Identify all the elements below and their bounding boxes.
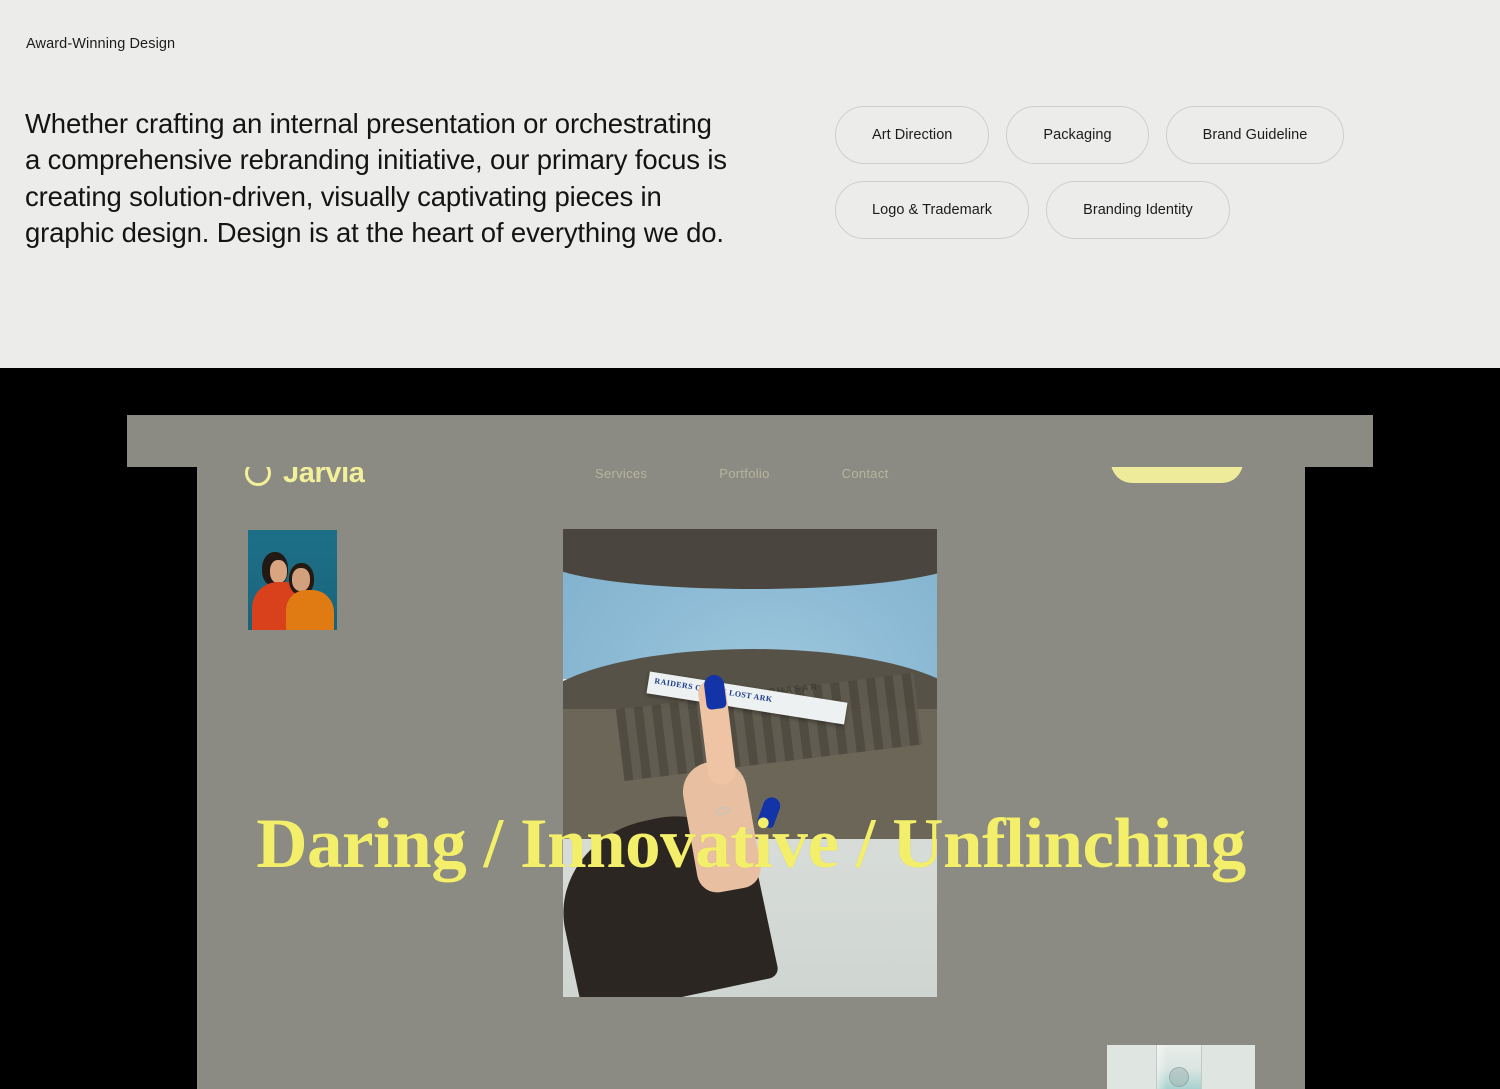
tag-label: Logo & Trademark (872, 202, 992, 218)
figure-b-body (286, 590, 334, 630)
section-eyebrow-label: Award-Winning Design (26, 36, 175, 52)
tv-bezel-top (563, 529, 937, 589)
card-seam-right (1201, 1045, 1202, 1089)
nav-link-contact[interactable]: Contact (842, 467, 889, 481)
preview-top-band (127, 415, 1373, 468)
crop-mask-top (0, 368, 1500, 415)
product-emblem-icon (1169, 1067, 1189, 1087)
tag-pill-brand-guideline[interactable]: Brand Guideline (1166, 106, 1345, 164)
preview-navbar: Jarvia Services Portfolio Contact Book a… (197, 467, 1305, 501)
website-preview-panel[interactable]: Jarvia Services Portfolio Contact Book a… (197, 467, 1305, 1089)
duo-portrait-photo (248, 530, 337, 630)
tag-label: Branding Identity (1083, 202, 1193, 218)
packaging-product-card (1107, 1045, 1255, 1089)
figure-a-face (270, 560, 287, 583)
tag-pill-branding-identity[interactable]: Branding Identity (1046, 181, 1230, 239)
book-a-call-button[interactable]: Book a Call (1111, 467, 1243, 483)
nav-link-portfolio[interactable]: Portfolio (719, 467, 769, 481)
crop-mask-right-lower (1305, 467, 1500, 1089)
figure-b-face (292, 568, 310, 591)
card-seam-left (1156, 1045, 1157, 1089)
intro-section: Award-Winning Design Whether crafting an… (0, 0, 1500, 368)
portfolio-preview-section: Jarvia Services Portfolio Contact Book a… (0, 368, 1500, 1089)
crop-mask-left-lower (0, 467, 197, 1089)
product-tube-highlight (1157, 1045, 1167, 1089)
vhs-tv-photo: QUASAR RAIDERS OF THE LOST ARK (563, 529, 937, 997)
preview-nav-links: Services Portfolio Contact (595, 467, 889, 501)
tag-pill-art-direction[interactable]: Art Direction (835, 106, 989, 164)
nav-link-services[interactable]: Services (595, 467, 647, 481)
brand-name-label: Jarvia (283, 467, 364, 488)
hero-headline: Daring / Innovative / Unflinching (197, 805, 1305, 883)
tag-label: Packaging (1043, 127, 1111, 143)
intro-paragraph: Whether crafting an internal presentatio… (25, 106, 730, 252)
tag-label: Art Direction (872, 127, 952, 143)
tag-label: Brand Guideline (1203, 127, 1308, 143)
screenshot-stage: Award-Winning Design Whether crafting an… (0, 0, 1500, 1089)
tag-pill-logo-trademark[interactable]: Logo & Trademark (835, 181, 1029, 239)
circle-logo-icon (245, 467, 271, 486)
brand-logo[interactable]: Jarvia (245, 467, 364, 501)
service-tag-list: Art Direction Packaging Brand Guideline … (835, 106, 1395, 239)
tag-pill-packaging[interactable]: Packaging (1006, 106, 1148, 164)
